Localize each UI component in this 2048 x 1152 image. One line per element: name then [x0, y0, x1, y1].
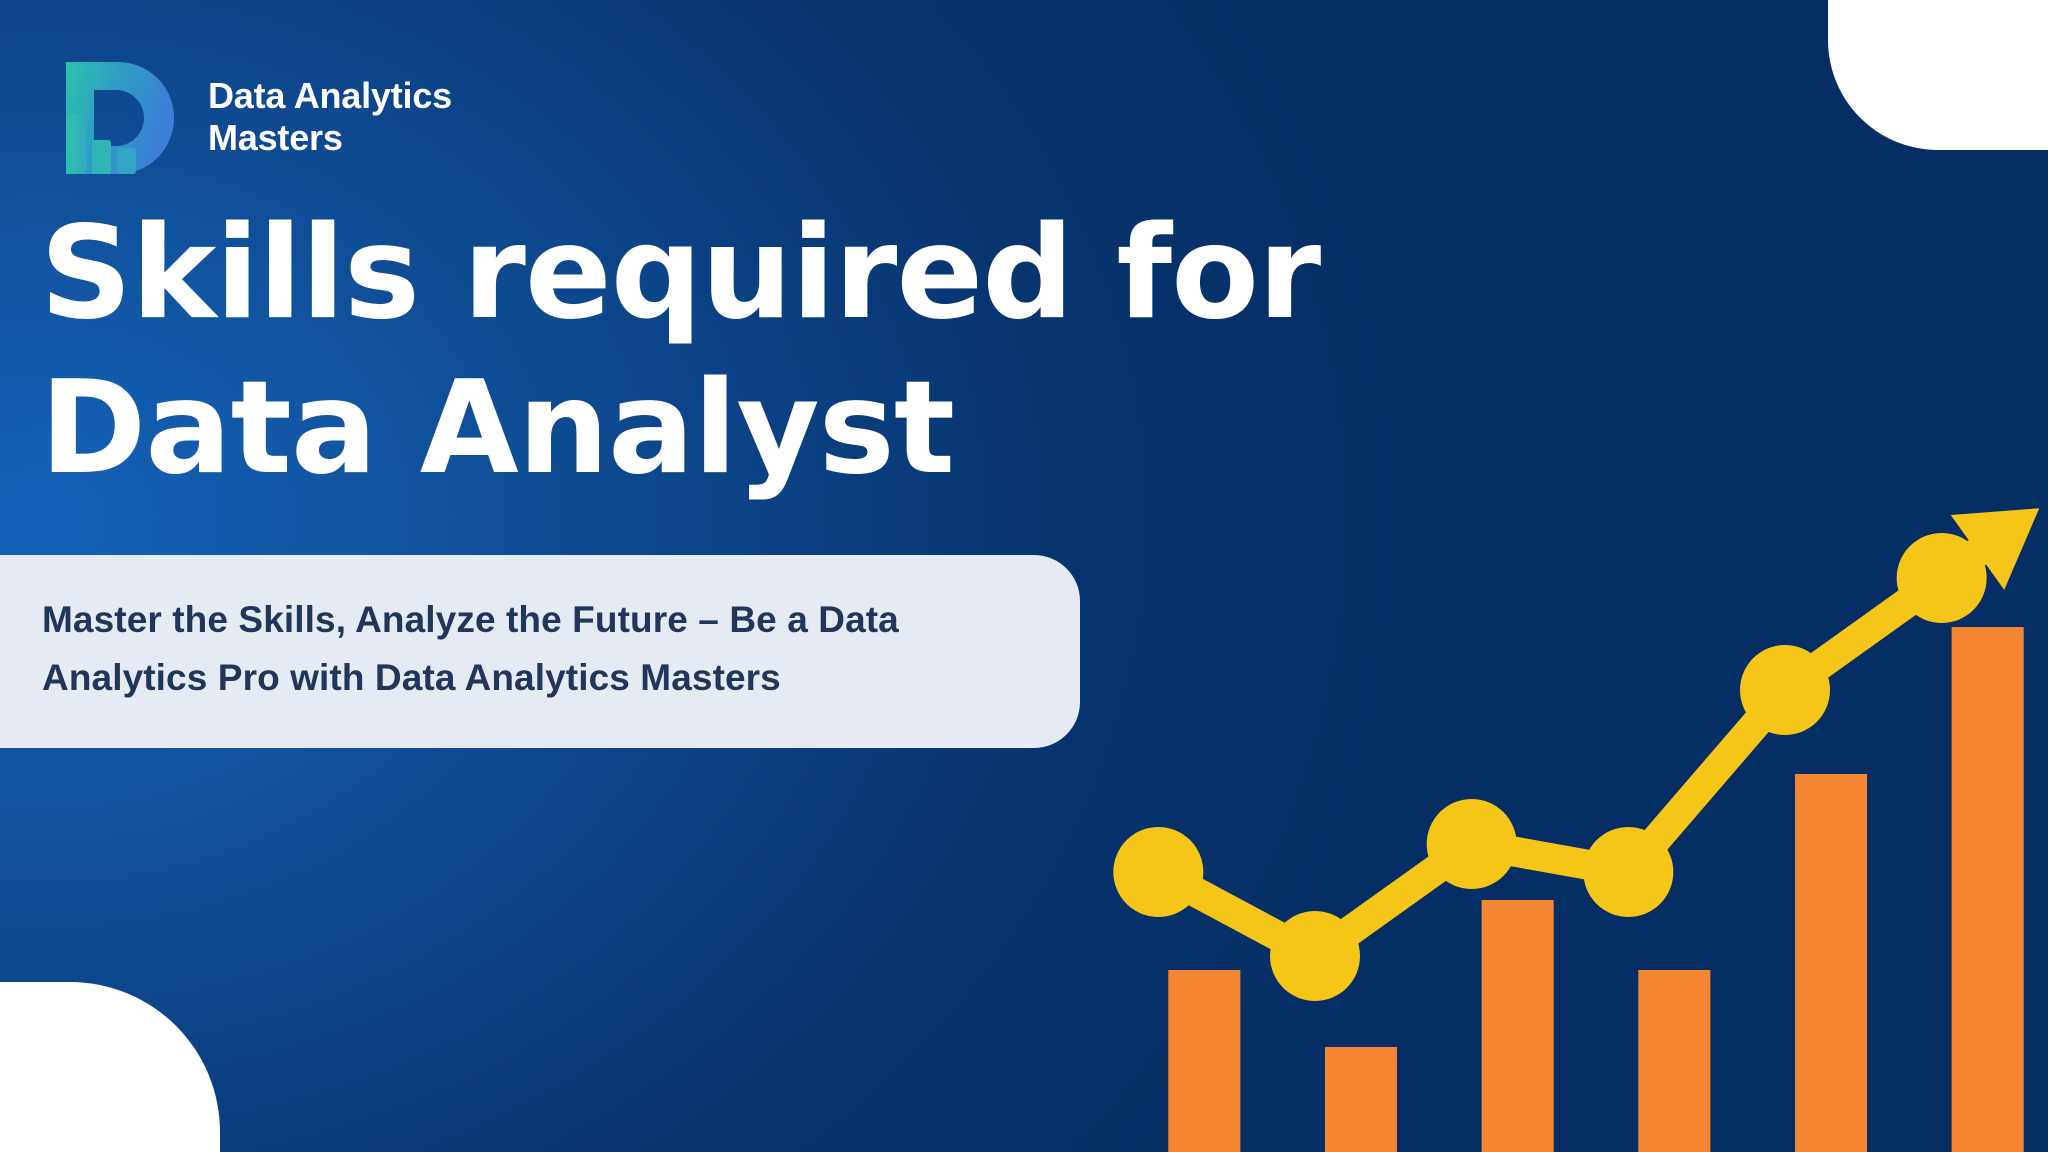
chart-bar: [1952, 627, 2024, 1152]
subtitle-line2: Analytics Pro with Data Analytics Master…: [42, 649, 1020, 707]
chart-marker: [1897, 533, 1987, 623]
growth-chart: [1108, 452, 2048, 1152]
poster-canvas: Data Analytics Masters Skills required f…: [0, 0, 2048, 1152]
decor-corner-bottom-left: [0, 982, 220, 1152]
chart-marker: [1427, 799, 1517, 889]
chart-bar: [1482, 900, 1554, 1152]
logo-d-mark-icon: [58, 58, 186, 176]
chart-bar: [1795, 774, 1867, 1152]
brand-logo[interactable]: Data Analytics Masters: [58, 58, 452, 176]
chart-marker: [1270, 911, 1360, 1001]
chart-marker: [1740, 645, 1830, 735]
subtitle-line1: Master the Skills, Analyze the Future – …: [42, 591, 1020, 649]
chart-marker: [1113, 827, 1203, 917]
brand-name: Data Analytics Masters: [208, 75, 452, 160]
chart-bar: [1638, 970, 1710, 1152]
decor-corner-top-right: [1828, 0, 2048, 150]
chart-bar: [1325, 1047, 1397, 1152]
brand-name-line2: Masters: [208, 117, 452, 159]
brand-name-line1: Data Analytics: [208, 75, 452, 117]
chart-bar: [1168, 970, 1240, 1152]
chart-marker: [1583, 827, 1673, 917]
page-title-line1: Skills required for: [40, 198, 1320, 349]
subtitle-banner: Master the Skills, Analyze the Future – …: [0, 555, 1080, 748]
